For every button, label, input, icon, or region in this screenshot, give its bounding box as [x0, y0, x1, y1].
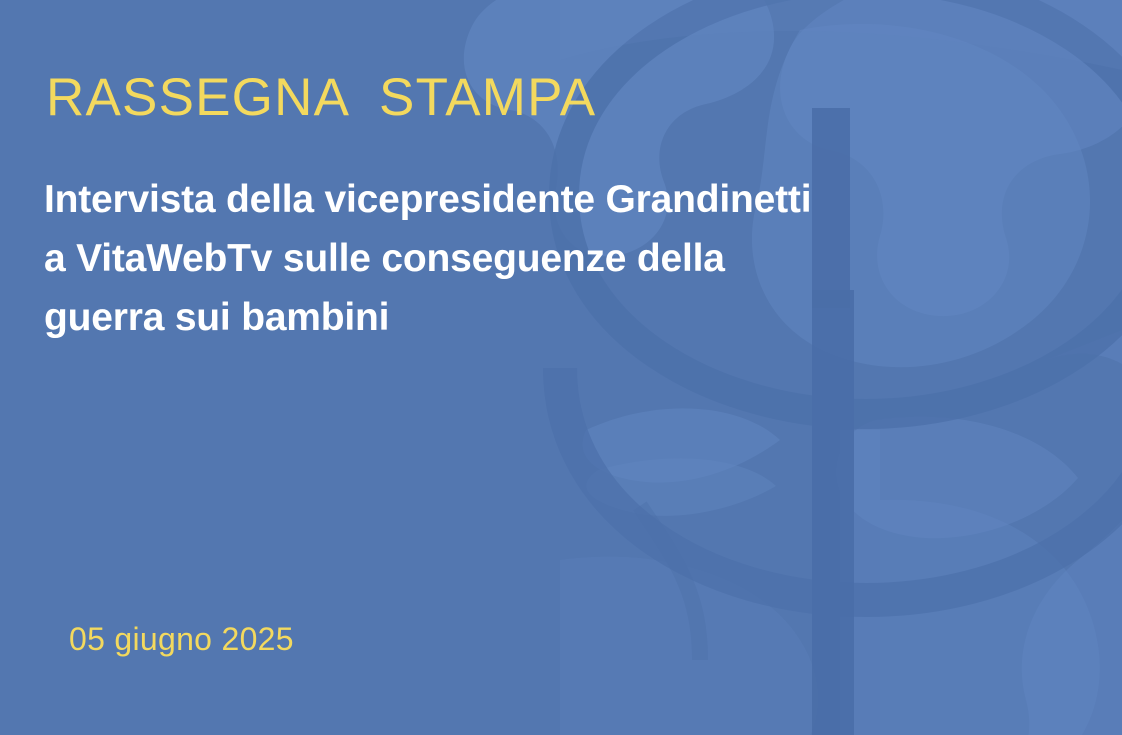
- press-review-slide: RASSEGNA STAMPA Intervista della vicepre…: [0, 0, 1122, 735]
- publication-date: 05 giugno 2025: [69, 620, 294, 658]
- headline: Intervista della vicepresidente Grandine…: [44, 170, 994, 347]
- slide-content: RASSEGNA STAMPA Intervista della vicepre…: [0, 0, 1122, 735]
- page-title: RASSEGNA STAMPA: [46, 70, 596, 126]
